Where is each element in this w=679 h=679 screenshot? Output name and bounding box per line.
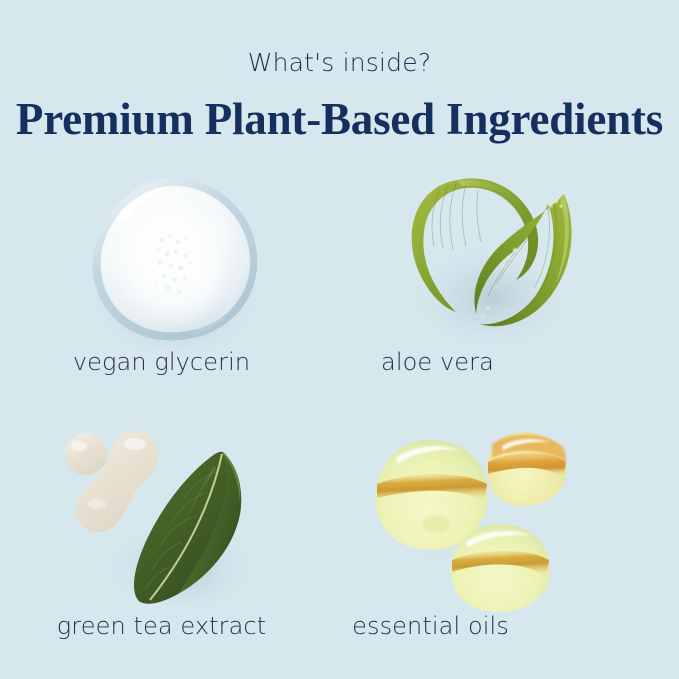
ingredient-label-essential-oils: essential oils — [261, 614, 600, 638]
green-tea-leaf-icon — [0, 418, 339, 614]
oil-droplet-amber — [487, 432, 566, 506]
ingredients-grid: vegan glycerin — [0, 168, 679, 668]
header: What's inside? Premium Plant-Based Ingre… — [0, 0, 679, 142]
green-tea-leaf-svg — [0, 418, 339, 624]
essential-oil-droplets-icon — [340, 418, 679, 614]
eyebrow-text: What's inside? — [0, 0, 679, 75]
aloe-vera-leaf-strips-icon — [340, 168, 679, 364]
aloe-vera-strips-svg — [340, 168, 679, 364]
ingredient-card-vegan-glycerin: vegan glycerin — [0, 168, 339, 418]
glycerin-gel-drop-svg — [0, 168, 339, 364]
oil-droplet-medium — [451, 524, 550, 612]
ingredient-card-aloe-vera: aloe vera — [340, 168, 679, 418]
page-title: Premium Plant-Based Ingredients — [0, 75, 679, 142]
ingredient-label-aloe-vera: aloe vera — [268, 350, 607, 374]
glycerin-gel-drop-icon — [0, 168, 339, 364]
ingredients-infographic: What's inside? Premium Plant-Based Ingre… — [0, 0, 679, 679]
ingredient-card-essential-oils: essential oils — [340, 418, 679, 668]
essential-oil-droplets-svg — [340, 418, 679, 624]
